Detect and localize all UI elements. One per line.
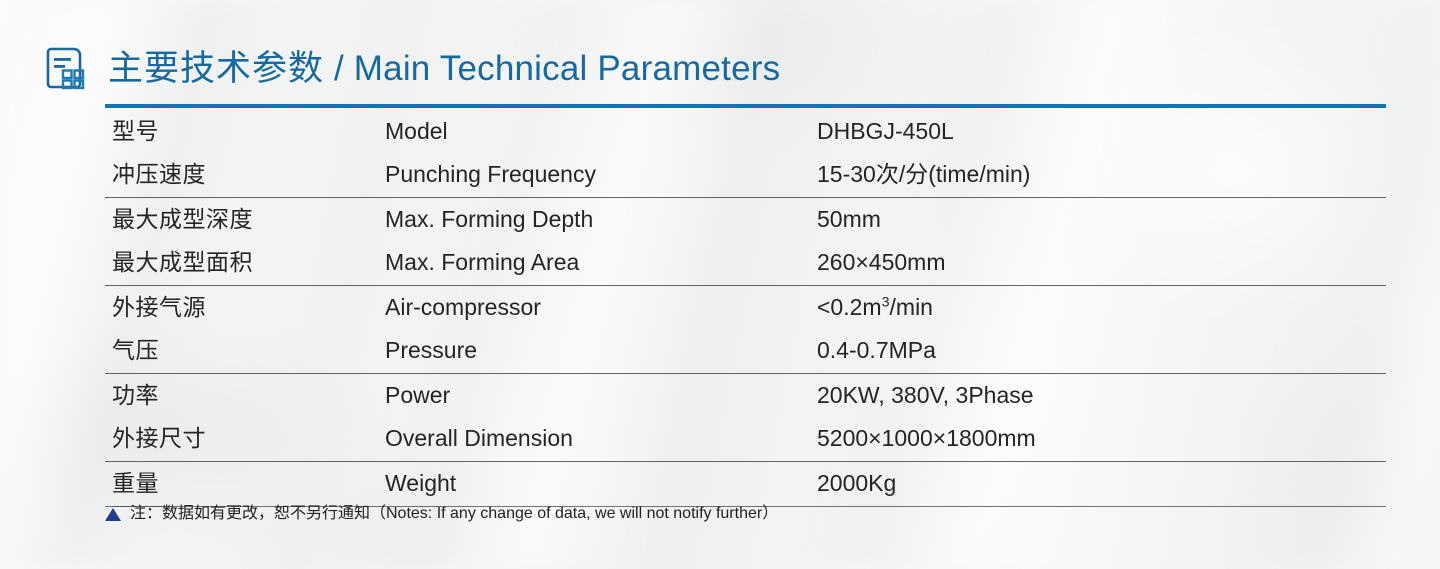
technical-parameters-page: 主要技术参数 / Main Technical Parameters 型号 Mo… (0, 0, 1440, 569)
param-value: <0.2m3/min (817, 294, 933, 320)
param-label-cn: 最大成型深度 (112, 206, 253, 232)
param-value: 0.4-0.7MPa (817, 337, 936, 363)
page-title-en: Main Technical Parameters (354, 49, 781, 88)
param-label-cn: 重量 (112, 470, 159, 496)
param-value: 5200×1000×1800mm (817, 425, 1036, 451)
param-label-cn: 外接气源 (112, 294, 206, 320)
param-value: DHBGJ-450L (817, 118, 954, 144)
param-label-cn: 最大成型面积 (112, 249, 253, 275)
table-row: 最大成型面积 Max. Forming Area 260×450mm (105, 242, 1386, 286)
page-title: 主要技术参数 / Main Technical Parameters (108, 51, 780, 86)
table-row: 外接气源 Air-compressor <0.2m3/min (105, 286, 1386, 330)
footnote-text: 注：数据如有更改，恕不另行通知（Notes: If any change of … (130, 506, 778, 522)
document-grid-icon (46, 46, 86, 90)
parameters-table: 型号 Model DHBGJ-450L 冲压速度 Punching Freque… (105, 110, 1386, 507)
param-value: 20KW, 380V, 3Phase (817, 382, 1034, 408)
param-value: 50mm (817, 206, 881, 232)
param-label-en: Power (385, 382, 450, 408)
param-label-en: Pressure (385, 337, 477, 363)
page-title-cn: 主要技术参数 (108, 49, 324, 88)
header-rule (105, 104, 1386, 108)
param-label-en: Overall Dimension (385, 425, 573, 451)
table-row: 冲压速度 Punching Frequency 15-30次/分(time/mi… (105, 154, 1386, 198)
page-title-separator: / (324, 49, 354, 88)
param-label-cn: 冲压速度 (112, 161, 206, 187)
table-row: 重量 Weight 2000Kg (105, 462, 1386, 506)
param-value: 260×450mm (817, 249, 946, 275)
param-label-cn: 气压 (112, 337, 159, 363)
param-label-en: Max. Forming Depth (385, 206, 593, 232)
page-header: 主要技术参数 / Main Technical Parameters (46, 46, 780, 90)
table-row: 型号 Model DHBGJ-450L (105, 110, 1386, 154)
param-label-cn: 型号 (112, 118, 159, 144)
table-row: 功率 Power 20KW, 380V, 3Phase (105, 374, 1386, 418)
triangle-up-icon (105, 508, 121, 521)
table-row: 外接尺寸 Overall Dimension 5200×1000×1800mm (105, 418, 1386, 462)
table-row: 最大成型深度 Max. Forming Depth 50mm (105, 198, 1386, 242)
param-value: 2000Kg (817, 470, 896, 496)
param-label-en: Weight (385, 470, 456, 496)
param-label-en: Air-compressor (385, 294, 541, 320)
param-label-en: Punching Frequency (385, 161, 596, 187)
footnote: 注：数据如有更改，恕不另行通知（Notes: If any change of … (105, 506, 778, 522)
param-label-cn: 外接尺寸 (112, 425, 206, 451)
param-label-cn: 功率 (112, 382, 159, 408)
param-label-en: Max. Forming Area (385, 249, 579, 275)
param-value: 15-30次/分(time/min) (817, 161, 1030, 187)
table-row: 气压 Pressure 0.4-0.7MPa (105, 330, 1386, 374)
param-label-en: Model (385, 118, 448, 144)
